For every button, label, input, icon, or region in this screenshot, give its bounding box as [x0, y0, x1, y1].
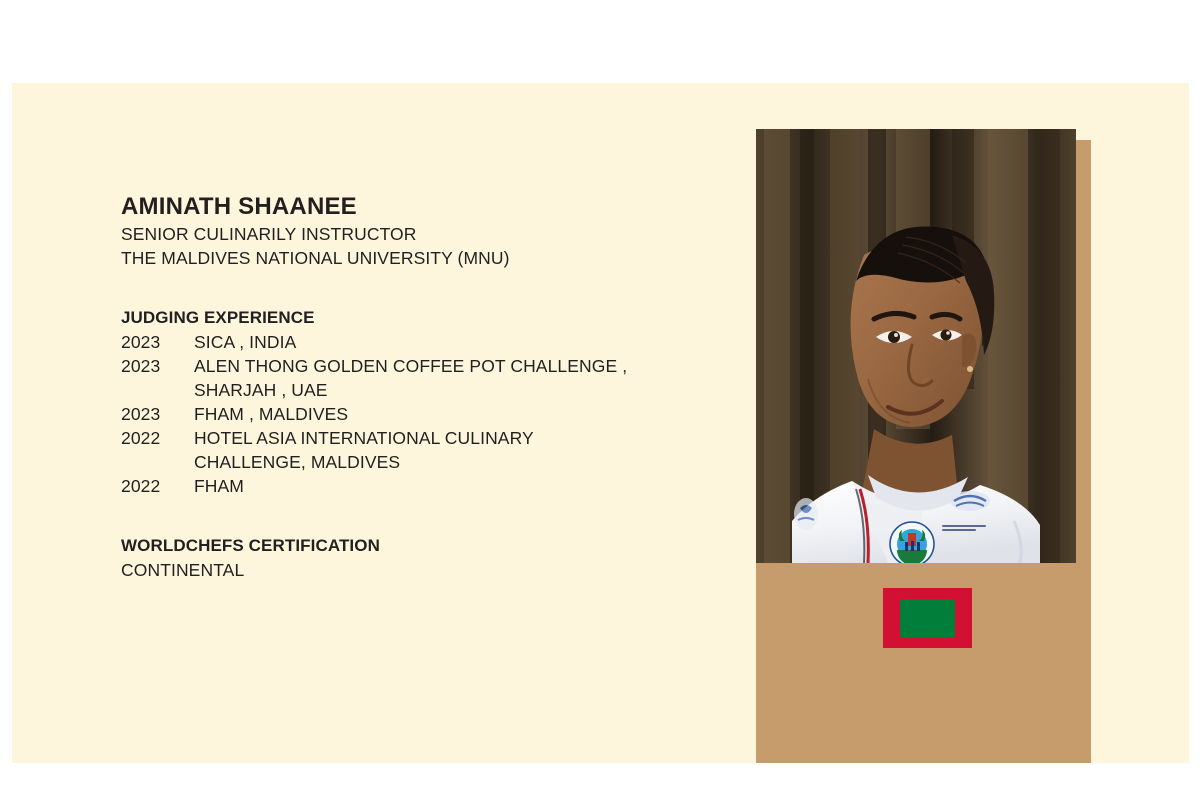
portrait-photo-illustration: [756, 129, 1076, 563]
judging-entry: 2022 FHAM: [121, 474, 681, 498]
profile-text-column: AMINATH SHAANEE SENIOR CULINARILY INSTRU…: [121, 192, 681, 582]
judging-entry-year: 2023: [121, 402, 194, 426]
judging-entry-year: 2022: [121, 426, 194, 474]
judging-entry-year: 2022: [121, 474, 194, 498]
judging-entry-line1: FHAM , MALDIVES: [194, 404, 348, 424]
flag-crescent-icon: [883, 588, 972, 648]
judging-entry-line2: CHALLENGE, MALDIVES: [194, 450, 681, 474]
maldives-flag: [883, 588, 972, 648]
judging-entry-year: 2023: [121, 354, 194, 402]
page-title: AMINATH SHAANEE: [121, 192, 681, 222]
judging-entry-description: FHAM , MALDIVES: [194, 402, 681, 426]
worldchefs-certification-heading: WORLDCHEFS CERTIFICATION: [121, 534, 681, 558]
judging-experience-heading: JUDGING EXPERIENCE: [121, 306, 681, 330]
portrait-photo: [756, 129, 1076, 563]
worldchefs-certification-level: CONTINENTAL: [121, 558, 681, 582]
judging-entry: 2023 SICA , INDIA: [121, 330, 681, 354]
judging-entry: 2023 FHAM , MALDIVES: [121, 402, 681, 426]
judging-entry-description: ALEN THONG GOLDEN COFFEE POT CHALLENGE ,…: [194, 354, 681, 402]
judging-entry-description: HOTEL ASIA INTERNATIONAL CULINARY CHALLE…: [194, 426, 681, 474]
judging-entry: 2022 HOTEL ASIA INTERNATIONAL CULINARY C…: [121, 426, 681, 474]
judging-entry: 2023 ALEN THONG GOLDEN COFFEE POT CHALLE…: [121, 354, 681, 402]
profile-organization: THE MALDIVES NATIONAL UNIVERSITY (MNU): [121, 246, 681, 270]
profile-card: AMINATH SHAANEE SENIOR CULINARILY INSTRU…: [12, 83, 1189, 763]
judging-entry-line1: SICA , INDIA: [194, 332, 296, 352]
judging-entry-line2: SHARJAH , UAE: [194, 378, 681, 402]
judging-entry-description: SICA , INDIA: [194, 330, 681, 354]
judging-entry-line1: ALEN THONG GOLDEN COFFEE POT CHALLENGE ,: [194, 356, 627, 376]
judging-entry-line1: HOTEL ASIA INTERNATIONAL CULINARY: [194, 428, 534, 448]
profile-job-title: SENIOR CULINARILY INSTRUCTOR: [121, 222, 681, 246]
judging-entry-line1: FHAM: [194, 476, 244, 496]
judging-entry-description: FHAM: [194, 474, 681, 498]
judging-entry-year: 2023: [121, 330, 194, 354]
